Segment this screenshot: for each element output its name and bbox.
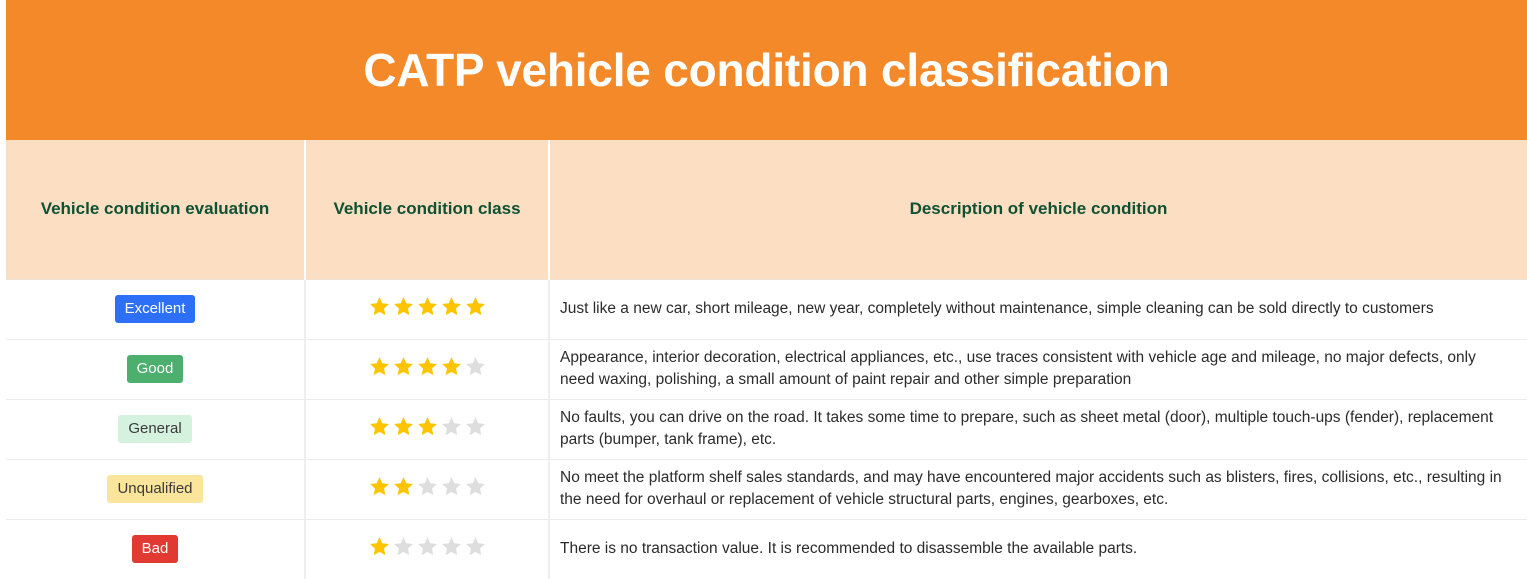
- star-rating: [368, 475, 487, 498]
- description-cell: Just like a new car, short mileage, new …: [549, 279, 1527, 339]
- evaluation-cell: Unqualified: [6, 459, 305, 519]
- star-empty-icon: [464, 355, 487, 378]
- evaluation-cell: Bad: [6, 519, 305, 579]
- class-cell: [305, 519, 549, 579]
- star-filled-icon: [416, 415, 439, 438]
- star-empty-icon: [440, 475, 463, 498]
- status-badge: Excellent: [115, 295, 196, 323]
- class-cell: [305, 459, 549, 519]
- status-badge: Unqualified: [107, 475, 202, 503]
- description-cell: No faults, you can drive on the road. It…: [549, 399, 1527, 459]
- description-cell: No meet the platform shelf sales standar…: [549, 459, 1527, 519]
- status-badge: Good: [127, 355, 184, 383]
- class-cell: [305, 339, 549, 399]
- table-row: GoodAppearance, interior decoration, ele…: [6, 339, 1527, 399]
- table-header-row: Vehicle condition evaluation Vehicle con…: [6, 140, 1527, 279]
- star-filled-icon: [368, 355, 391, 378]
- star-rating: [368, 535, 487, 558]
- classification-table-page: CATP vehicle condition classification Ve…: [0, 0, 1527, 579]
- star-filled-icon: [368, 415, 391, 438]
- status-badge: General: [118, 415, 191, 443]
- evaluation-cell: Good: [6, 339, 305, 399]
- table-row: UnqualifiedNo meet the platform shelf sa…: [6, 459, 1527, 519]
- column-header-description: Description of vehicle condition: [549, 140, 1527, 279]
- star-empty-icon: [416, 475, 439, 498]
- page-title: CATP vehicle condition classification: [363, 47, 1169, 93]
- page-banner: CATP vehicle condition classification: [6, 0, 1527, 140]
- star-empty-icon: [392, 535, 415, 558]
- star-rating: [368, 295, 487, 318]
- star-filled-icon: [392, 475, 415, 498]
- star-empty-icon: [440, 415, 463, 438]
- column-header-class: Vehicle condition class: [305, 140, 549, 279]
- class-cell: [305, 279, 549, 339]
- star-filled-icon: [368, 535, 391, 558]
- star-filled-icon: [368, 295, 391, 318]
- table-row: ExcellentJust like a new car, short mile…: [6, 279, 1527, 339]
- evaluation-cell: Excellent: [6, 279, 305, 339]
- table-container: Vehicle condition evaluation Vehicle con…: [6, 140, 1527, 579]
- description-cell: There is no transaction value. It is rec…: [549, 519, 1527, 579]
- status-badge: Bad: [132, 535, 179, 563]
- star-rating: [368, 415, 487, 438]
- star-rating: [368, 355, 487, 378]
- star-empty-icon: [416, 535, 439, 558]
- table-row: BadThere is no transaction value. It is …: [6, 519, 1527, 579]
- star-empty-icon: [464, 475, 487, 498]
- star-filled-icon: [464, 295, 487, 318]
- star-filled-icon: [416, 295, 439, 318]
- description-cell: Appearance, interior decoration, electri…: [549, 339, 1527, 399]
- star-empty-icon: [464, 415, 487, 438]
- star-filled-icon: [368, 475, 391, 498]
- star-filled-icon: [440, 355, 463, 378]
- star-filled-icon: [392, 355, 415, 378]
- star-filled-icon: [392, 295, 415, 318]
- class-cell: [305, 399, 549, 459]
- star-empty-icon: [440, 535, 463, 558]
- column-header-evaluation: Vehicle condition evaluation: [6, 140, 305, 279]
- table-body: ExcellentJust like a new car, short mile…: [6, 279, 1527, 579]
- star-empty-icon: [464, 535, 487, 558]
- star-filled-icon: [392, 415, 415, 438]
- vehicle-condition-table: Vehicle condition evaluation Vehicle con…: [6, 140, 1527, 579]
- star-filled-icon: [440, 295, 463, 318]
- evaluation-cell: General: [6, 399, 305, 459]
- table-row: GeneralNo faults, you can drive on the r…: [6, 399, 1527, 459]
- star-filled-icon: [416, 355, 439, 378]
- table-header: Vehicle condition evaluation Vehicle con…: [6, 140, 1527, 279]
